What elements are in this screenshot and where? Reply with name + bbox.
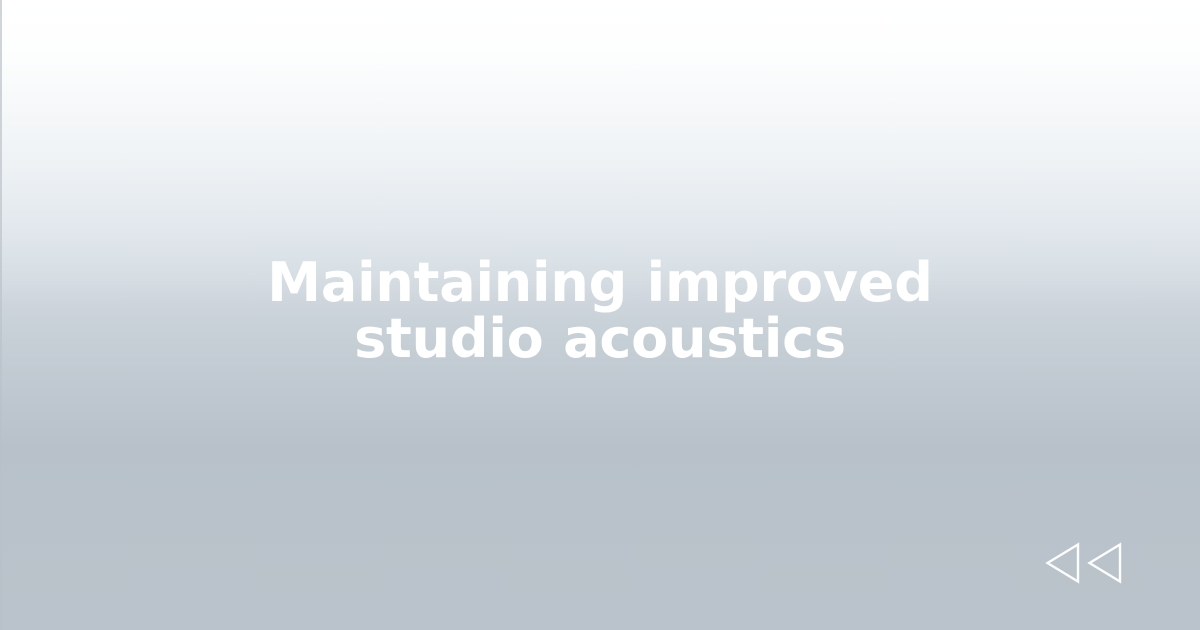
social-card: Maintaining improved studio acoustics (0, 0, 1200, 630)
triangle-left-icon[interactable] (1086, 541, 1122, 585)
page-title: Maintaining improved studio acoustics (220, 255, 980, 375)
headline-container: Maintaining improved studio acoustics (0, 0, 1200, 630)
rewind-button[interactable] (1044, 539, 1136, 587)
triangle-left-icon[interactable] (1044, 541, 1080, 585)
